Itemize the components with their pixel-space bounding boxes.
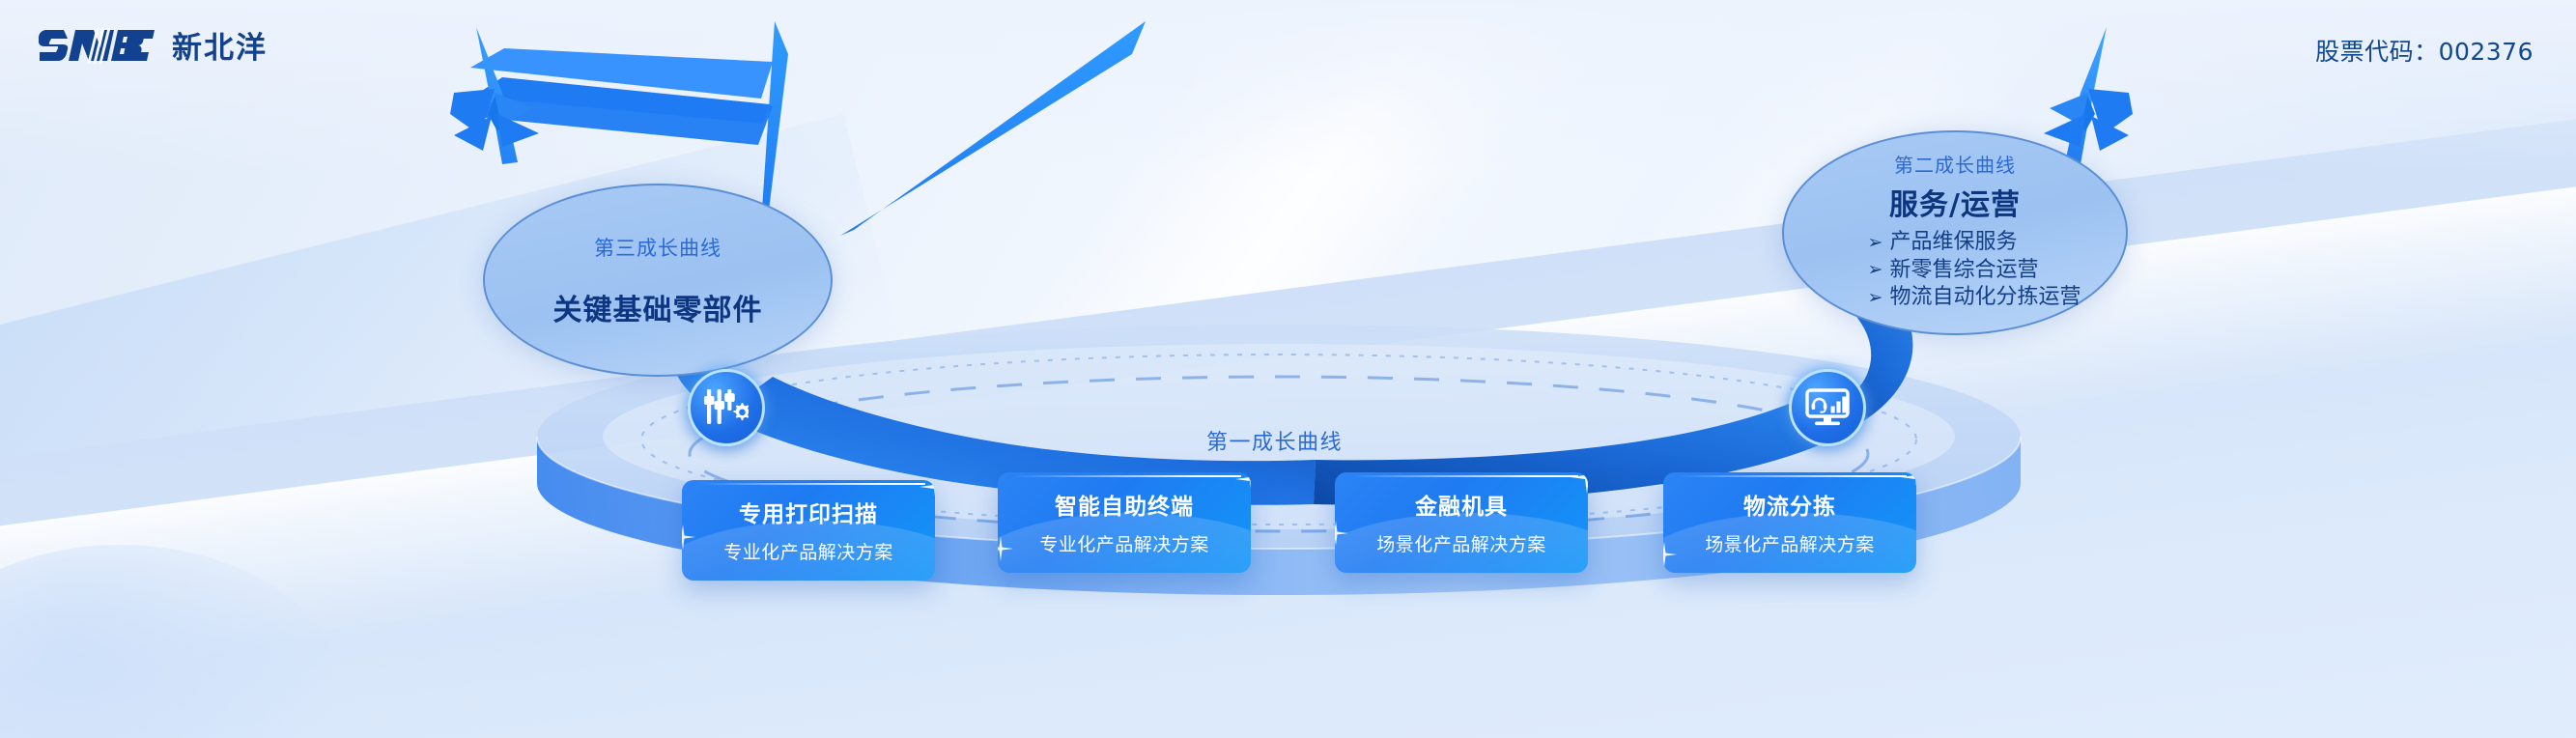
third-growth-curve-bubble[interactable]: 第三成长曲线 关键基础零部件 bbox=[483, 184, 833, 377]
list-item: ➢ 新零售综合运营 bbox=[1868, 257, 2081, 285]
monitor-headset-chart-icon[interactable] bbox=[1789, 369, 1866, 446]
card-title: 物流分拣 bbox=[1663, 488, 1916, 521]
second-curve-subtitle: 第二成长曲线 bbox=[1894, 150, 2016, 178]
card-subtitle: 场景化产品解决方案 bbox=[1335, 530, 1588, 556]
list-item-label: 物流自动化分拣运营 bbox=[1889, 284, 2081, 312]
card-top-highlight bbox=[697, 483, 925, 485]
second-curve-bullet-list: ➢ 产品维保服务 ➢ 新零售综合运营 ➢ 物流自动化分拣运营 bbox=[1829, 229, 2081, 312]
bullet-arrow-icon: ➢ bbox=[1868, 261, 1883, 279]
product-card[interactable]: 专用打印扫描 专业化产品解决方案 bbox=[682, 480, 935, 581]
second-growth-curve-bubble[interactable]: 第二成长曲线 服务/运营 ➢ 产品维保服务 ➢ 新零售综合运营 ➢ 物流自动化分… bbox=[1782, 130, 2128, 335]
product-card[interactable]: 智能自助终端 专业化产品解决方案 bbox=[998, 472, 1251, 573]
list-item: ➢ 物流自动化分拣运营 bbox=[1868, 284, 2081, 312]
sliders-gear-glyph bbox=[704, 387, 749, 428]
growth-curve-graphics bbox=[0, 0, 2576, 738]
first-curve-label: 第一成长曲线 bbox=[1206, 425, 1343, 456]
card-subtitle: 场景化产品解决方案 bbox=[1663, 530, 1916, 556]
bullet-arrow-icon: ➢ bbox=[1868, 289, 1883, 307]
list-item-label: 产品维保服务 bbox=[1889, 229, 2017, 257]
card-top-highlight bbox=[1013, 475, 1241, 477]
product-card[interactable]: 物流分拣 场景化产品解决方案 bbox=[1663, 472, 1916, 573]
second-curve-title: 服务/运营 bbox=[1889, 181, 2021, 223]
card-subtitle: 专业化产品解决方案 bbox=[682, 538, 935, 564]
card-title: 智能自助终端 bbox=[998, 488, 1251, 521]
product-card[interactable]: 金融机具 场景化产品解决方案 bbox=[1335, 472, 1588, 573]
card-subtitle: 专业化产品解决方案 bbox=[998, 530, 1251, 556]
bullet-arrow-icon: ➢ bbox=[1868, 234, 1883, 252]
card-top-highlight bbox=[1350, 475, 1578, 477]
poster-canvas: 新北洋 股票代码：002376 bbox=[0, 0, 2576, 738]
list-item-label: 新零售综合运营 bbox=[1889, 257, 2038, 285]
monitor-headset-chart-glyph bbox=[1805, 388, 1850, 427]
card-top-highlight bbox=[1679, 475, 1907, 477]
second-curve-arrow-icon bbox=[840, 21, 1146, 236]
sliders-gear-icon[interactable] bbox=[688, 369, 765, 446]
third-curve-title: 关键基础零部件 bbox=[553, 286, 763, 328]
list-item: ➢ 产品维保服务 bbox=[1868, 229, 2081, 257]
card-title: 金融机具 bbox=[1335, 488, 1588, 521]
card-title: 专用打印扫描 bbox=[682, 496, 935, 528]
third-curve-subtitle: 第三成长曲线 bbox=[594, 233, 722, 262]
